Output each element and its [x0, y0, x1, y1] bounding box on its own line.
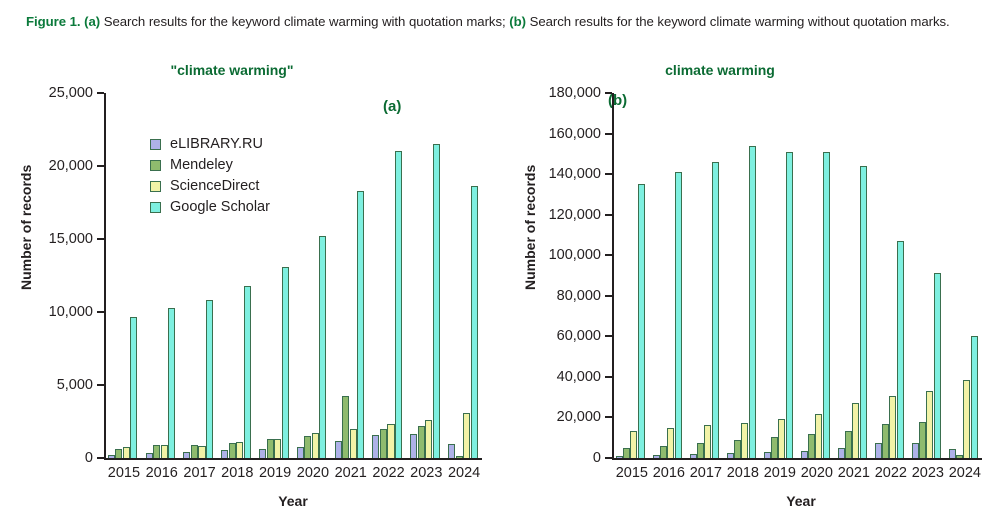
y-tick-b-6	[605, 214, 612, 216]
bar-elibrary-ru-2024	[448, 444, 455, 458]
legend-item-mendeley[interactable]: Mendeley	[150, 157, 270, 173]
bar-group-2024: 2024	[448, 93, 478, 458]
bar-sciencedirect-2015	[630, 431, 637, 458]
bar-elibrary-ru-2018	[221, 450, 228, 458]
bar-mendeley-2019	[771, 437, 778, 458]
bar-mendeley-2017	[697, 443, 704, 458]
chart-panel-b: climate warming (b) 020,00040,00060,0008…	[500, 56, 1000, 516]
bar-mendeley-2021	[342, 396, 349, 458]
bar-mendeley-2016	[153, 445, 160, 458]
y-tick-b-2	[605, 376, 612, 378]
legend-swatch-icon	[150, 160, 161, 171]
panel-b-x-axis	[612, 458, 982, 460]
bar-google-scholar-2017	[206, 300, 213, 458]
x-tick-label-2020: 2020	[801, 465, 831, 481]
panel-b-y-axis	[612, 93, 614, 458]
bar-group-2016: 2016	[653, 93, 683, 458]
y-tick-label-b-9: 180,000	[549, 85, 601, 101]
y-tick-a-5	[97, 92, 104, 94]
y-tick-b-0	[605, 457, 612, 459]
bar-google-scholar-2023	[433, 144, 440, 458]
bar-google-scholar-2015	[638, 184, 645, 458]
panel-a-y-axis	[104, 93, 106, 458]
x-tick-label-2023: 2023	[410, 465, 440, 481]
bar-google-scholar-2017	[712, 162, 719, 458]
panel-b-x-axis-label: Year	[612, 493, 990, 509]
legend-swatch-icon	[150, 181, 161, 192]
x-tick-label-2024: 2024	[448, 465, 478, 481]
panel-b-plot-area: 020,00040,00060,00080,000100,000120,0001…	[612, 93, 982, 458]
y-tick-label-b-4: 80,000	[557, 288, 601, 304]
bar-elibrary-ru-2017	[183, 452, 190, 458]
bar-elibrary-ru-2024	[949, 449, 956, 458]
y-tick-label-a-2: 10,000	[49, 304, 93, 320]
bar-group-2021: 2021	[335, 93, 365, 458]
caption-tag-a: (a)	[84, 14, 100, 29]
x-tick-label-2021: 2021	[838, 465, 868, 481]
x-tick-label-2015: 2015	[108, 465, 138, 481]
bar-google-scholar-2018	[244, 286, 251, 458]
caption-text-b: Search results for the keyword climate w…	[526, 14, 950, 29]
bar-google-scholar-2018	[749, 146, 756, 458]
y-tick-a-3	[97, 238, 104, 240]
bar-group-2021: 2021	[838, 93, 868, 458]
y-tick-label-b-0: 0	[593, 450, 601, 466]
bar-sciencedirect-2017	[704, 425, 711, 458]
bar-google-scholar-2020	[319, 236, 326, 458]
x-tick-label-2022: 2022	[875, 465, 905, 481]
bar-sciencedirect-2022	[889, 396, 896, 458]
y-tick-label-b-3: 60,000	[557, 328, 601, 344]
bar-google-scholar-2020	[823, 152, 830, 458]
x-tick-label-2021: 2021	[335, 465, 365, 481]
y-tick-b-3	[605, 335, 612, 337]
bar-sciencedirect-2021	[350, 429, 357, 458]
bar-elibrary-ru-2021	[335, 441, 342, 458]
bar-google-scholar-2016	[675, 172, 682, 458]
bar-elibrary-ru-2023	[912, 443, 919, 458]
y-tick-label-b-7: 140,000	[549, 166, 601, 182]
x-tick-label-2017: 2017	[183, 465, 213, 481]
bar-sciencedirect-2016	[667, 428, 674, 458]
bar-google-scholar-2022	[395, 151, 402, 458]
bar-elibrary-ru-2023	[410, 434, 417, 458]
x-tick-label-2018: 2018	[221, 465, 251, 481]
chart-panel-a: "climate warming" (a) 05,00010,00015,000…	[0, 56, 500, 516]
bar-mendeley-2022	[380, 429, 387, 458]
y-tick-a-2	[97, 311, 104, 313]
bar-google-scholar-2024	[471, 186, 478, 458]
bar-elibrary-ru-2020	[801, 451, 808, 458]
bar-sciencedirect-2020	[312, 433, 319, 458]
caption-text-a: Search results for the keyword climate w…	[100, 14, 509, 29]
y-tick-a-4	[97, 165, 104, 167]
bar-mendeley-2022	[882, 424, 889, 458]
bar-google-scholar-2015	[130, 317, 137, 458]
bar-mendeley-2018	[229, 443, 236, 458]
bar-elibrary-ru-2018	[727, 453, 734, 458]
bar-elibrary-ru-2022	[372, 435, 379, 458]
y-tick-label-b-8: 160,000	[549, 126, 601, 142]
x-tick-label-2016: 2016	[146, 465, 176, 481]
bar-mendeley-2015	[623, 448, 630, 458]
x-tick-label-2018: 2018	[727, 465, 757, 481]
y-tick-label-b-2: 40,000	[557, 369, 601, 385]
bar-mendeley-2016	[660, 446, 667, 458]
bar-elibrary-ru-2022	[875, 443, 882, 458]
x-tick-label-2019: 2019	[764, 465, 794, 481]
y-tick-b-7	[605, 173, 612, 175]
y-tick-b-5	[605, 254, 612, 256]
y-tick-label-b-6: 120,000	[549, 207, 601, 223]
bar-sciencedirect-2024	[963, 380, 970, 458]
y-tick-b-1	[605, 416, 612, 418]
y-tick-label-a-0: 0	[85, 450, 93, 466]
bar-elibrary-ru-2015	[108, 455, 115, 458]
y-tick-b-9	[605, 92, 612, 94]
y-tick-label-a-4: 20,000	[49, 158, 93, 174]
y-tick-label-a-1: 5,000	[57, 377, 93, 393]
bar-sciencedirect-2017	[198, 446, 205, 458]
bar-group-2023: 2023	[912, 93, 942, 458]
bar-mendeley-2020	[304, 436, 311, 458]
y-tick-label-a-3: 15,000	[49, 231, 93, 247]
x-tick-label-2017: 2017	[690, 465, 720, 481]
x-tick-label-2023: 2023	[912, 465, 942, 481]
x-tick-label-2019: 2019	[259, 465, 289, 481]
bar-group-2023: 2023	[410, 93, 440, 458]
bar-elibrary-ru-2021	[838, 448, 845, 458]
bar-mendeley-2020	[808, 434, 815, 458]
legend-label: eLIBRARY.RU	[170, 136, 263, 152]
bar-group-2024: 2024	[949, 93, 979, 458]
bar-group-2020: 2020	[297, 93, 327, 458]
legend-item-elibrary-ru[interactable]: eLIBRARY.RU	[150, 136, 270, 152]
bar-elibrary-ru-2020	[297, 447, 304, 458]
bar-group-2020: 2020	[801, 93, 831, 458]
bar-sciencedirect-2024	[463, 413, 470, 458]
bar-sciencedirect-2018	[236, 442, 243, 458]
bar-group-2018: 2018	[727, 93, 757, 458]
caption-tag-b: (b)	[509, 14, 526, 29]
panel-a-title: "climate warming"	[22, 62, 442, 78]
legend-label: Mendeley	[170, 157, 233, 173]
bar-sciencedirect-2019	[778, 419, 785, 458]
bar-mendeley-2015	[115, 449, 122, 458]
bar-sciencedirect-2019	[274, 439, 281, 458]
bar-group-2015: 2015	[108, 93, 138, 458]
bar-google-scholar-2019	[786, 152, 793, 458]
bar-sciencedirect-2018	[741, 423, 748, 458]
legend-item-google-scholar[interactable]: Google Scholar	[150, 199, 270, 215]
y-tick-a-0	[97, 457, 104, 459]
panel-a-legend: eLIBRARY.RUMendeleyScienceDirectGoogle S…	[150, 136, 270, 220]
bar-sciencedirect-2023	[926, 391, 933, 458]
y-tick-b-8	[605, 133, 612, 135]
x-tick-label-2015: 2015	[616, 465, 646, 481]
bar-sciencedirect-2016	[161, 445, 168, 458]
y-tick-label-b-5: 100,000	[549, 247, 601, 263]
y-tick-b-4	[605, 295, 612, 297]
legend-swatch-icon	[150, 202, 161, 213]
bar-elibrary-ru-2019	[259, 449, 266, 458]
legend-label: Google Scholar	[170, 199, 270, 215]
y-tick-label-b-1: 20,000	[557, 409, 601, 425]
bar-elibrary-ru-2016	[146, 453, 153, 458]
y-tick-label-a-5: 25,000	[49, 85, 93, 101]
bar-elibrary-ru-2016	[653, 455, 660, 458]
legend-swatch-icon	[150, 139, 161, 150]
panel-a-y-axis-label: Number of records	[18, 165, 34, 290]
bar-group-2015: 2015	[616, 93, 646, 458]
x-tick-label-2016: 2016	[653, 465, 683, 481]
figure-page: Figure 1. (a) Search results for the key…	[0, 0, 1000, 516]
bar-elibrary-ru-2019	[764, 452, 771, 458]
bar-mendeley-2019	[267, 439, 274, 458]
legend-label: ScienceDirect	[170, 178, 259, 194]
bar-group-2022: 2022	[372, 93, 402, 458]
bar-elibrary-ru-2017	[690, 454, 697, 458]
bar-google-scholar-2016	[168, 308, 175, 458]
bar-google-scholar-2021	[860, 166, 867, 458]
panel-a-x-axis	[104, 458, 482, 460]
bar-mendeley-2024	[956, 455, 963, 458]
legend-item-sciencedirect[interactable]: ScienceDirect	[150, 178, 270, 194]
bar-group-2017: 2017	[690, 93, 720, 458]
x-tick-label-2020: 2020	[297, 465, 327, 481]
bar-google-scholar-2024	[971, 336, 978, 458]
bar-sciencedirect-2021	[852, 403, 859, 458]
panel-b-title: climate warming	[510, 62, 930, 78]
bar-sciencedirect-2023	[425, 420, 432, 458]
panel-b-y-axis-label: Number of records	[522, 165, 538, 290]
bar-sciencedirect-2020	[815, 414, 822, 458]
bar-google-scholar-2021	[357, 191, 364, 458]
bar-sciencedirect-2022	[387, 424, 394, 458]
x-tick-label-2022: 2022	[372, 465, 402, 481]
bar-mendeley-2023	[418, 426, 425, 458]
y-tick-a-1	[97, 384, 104, 386]
bar-google-scholar-2023	[934, 273, 941, 458]
figure-number: Figure 1.	[26, 14, 81, 29]
bar-google-scholar-2019	[282, 267, 289, 458]
bar-sciencedirect-2015	[123, 447, 130, 458]
bar-mendeley-2021	[845, 431, 852, 458]
bar-mendeley-2017	[191, 445, 198, 458]
bar-google-scholar-2022	[897, 241, 904, 458]
figure-caption: Figure 1. (a) Search results for the key…	[26, 12, 976, 31]
bar-mendeley-2018	[734, 440, 741, 458]
bar-mendeley-2023	[919, 422, 926, 458]
x-tick-label-2024: 2024	[949, 465, 979, 481]
bar-elibrary-ru-2015	[616, 456, 623, 458]
bar-mendeley-2024	[456, 456, 463, 458]
panel-a-x-axis-label: Year	[104, 493, 482, 509]
bar-group-2019: 2019	[764, 93, 794, 458]
bar-group-2022: 2022	[875, 93, 905, 458]
